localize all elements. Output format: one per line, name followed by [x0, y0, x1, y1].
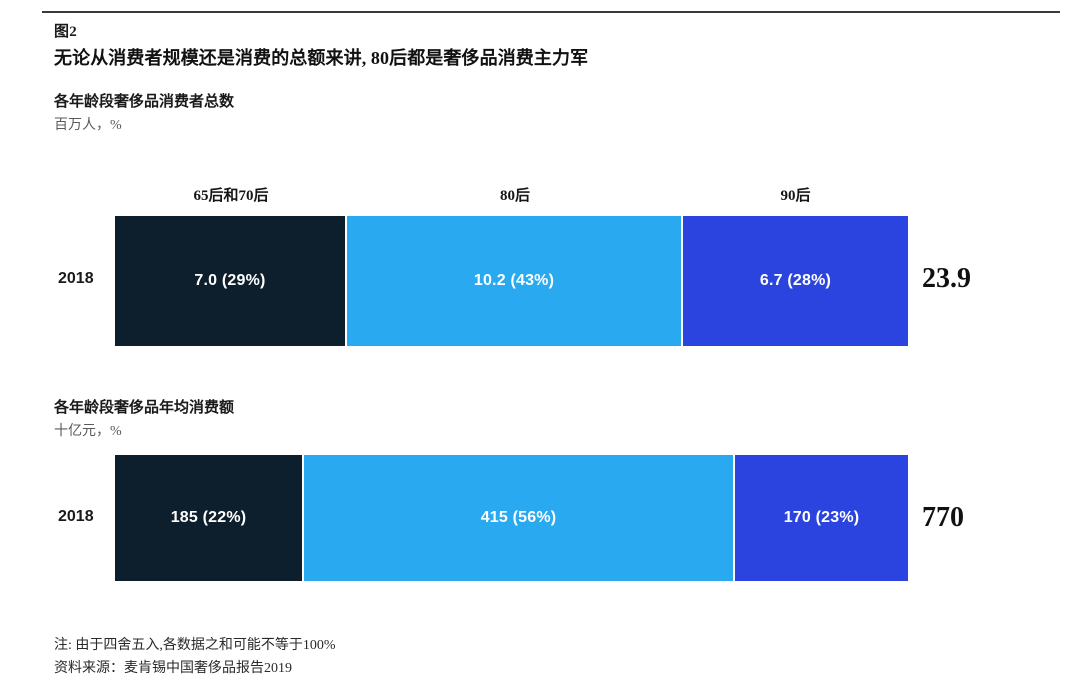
panel-2-stacked-bar: 185 (22%) 415 (56%) 170 (23%) [115, 455, 908, 581]
figure-number: 图2 [54, 20, 77, 41]
panel-1-total: 23.9 [922, 263, 971, 295]
panel-1-segment-80-label: 10.2 (43%) [474, 272, 554, 290]
panel-1-stacked-bar: 7.0 (29%) 10.2 (43%) 6.7 (28%) [115, 216, 908, 346]
top-divider [42, 11, 1060, 13]
panel-1-unit: 百万人，% [54, 114, 122, 134]
category-label-80: 80后 [347, 184, 683, 205]
panel-1-segment-80[interactable]: 10.2 (43%) [347, 216, 683, 346]
panel-2-segment-65-70[interactable]: 185 (22%) [115, 455, 304, 581]
panel-1-row-year: 2018 [58, 270, 94, 288]
panel-1-segment-65-70[interactable]: 7.0 (29%) [115, 216, 347, 346]
figure-page: 图2 无论从消费者规模还是消费的总额来讲, 80后都是奢侈品消费主力军 各年龄段… [0, 0, 1080, 679]
panel-2-segment-65-70-label: 185 (22%) [171, 509, 247, 527]
panel-2-segment-80[interactable]: 415 (56%) [304, 455, 735, 581]
panel-1-title: 各年龄段奢侈品消费者总数 [54, 90, 234, 111]
panel-2-segment-80-label: 415 (56%) [481, 509, 557, 527]
panel-2-row-year: 2018 [58, 508, 94, 526]
figure-headline: 无论从消费者规模还是消费的总额来讲, 80后都是奢侈品消费主力军 [54, 44, 588, 70]
panel-2-segment-90-label: 170 (23%) [784, 509, 860, 527]
panel-2-title: 各年龄段奢侈品年均消费额 [54, 396, 234, 417]
footnote-source: 资料来源：麦肯锡中国奢侈品报告2019 [54, 657, 292, 677]
panel-1-segment-90[interactable]: 6.7 (28%) [683, 216, 908, 346]
panel-2-total: 770 [922, 502, 964, 534]
category-label-90: 90后 [683, 184, 908, 205]
category-label-65-70: 65后和70后 [115, 184, 347, 205]
panel-1-segment-65-70-label: 7.0 (29%) [194, 272, 265, 290]
footnote-note: 注: 由于四舍五入,各数据之和可能不等于100% [54, 634, 336, 654]
panel-2-segment-90[interactable]: 170 (23%) [735, 455, 908, 581]
panel-2-unit: 十亿元，% [54, 420, 122, 440]
panel-1-segment-90-label: 6.7 (28%) [760, 272, 831, 290]
